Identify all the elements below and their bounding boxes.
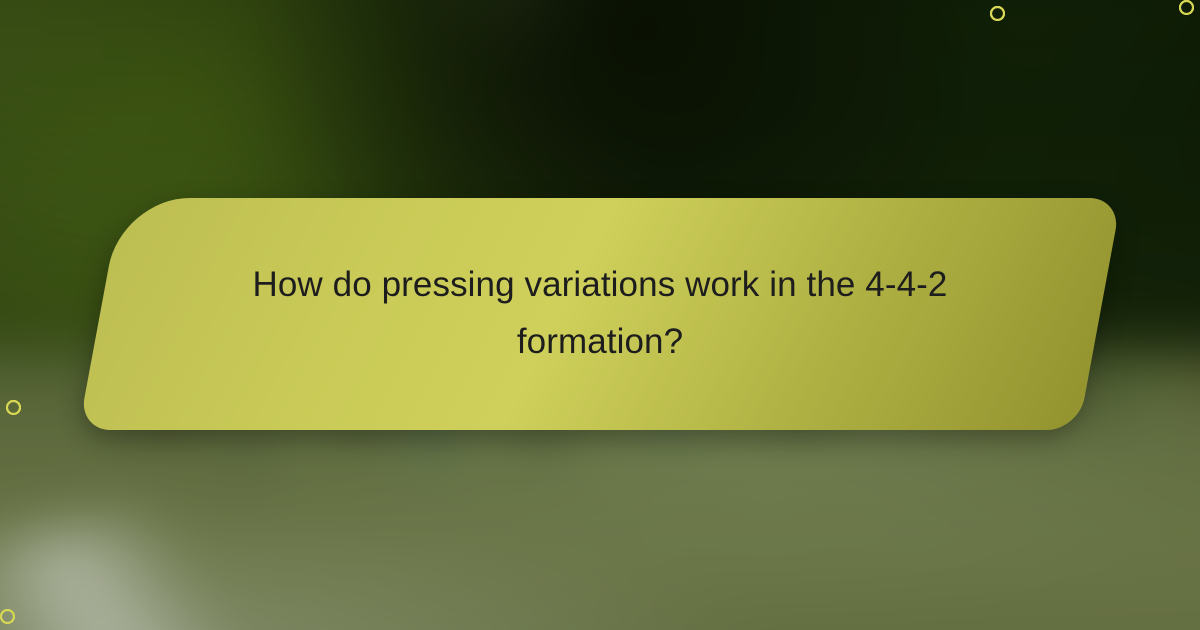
poster-canvas: How do pressing variations work in the 4… bbox=[0, 0, 1200, 630]
quote-text: How do pressing variations work in the 4… bbox=[218, 257, 982, 370]
quote-card: How do pressing variations work in the 4… bbox=[79, 198, 1122, 430]
quote-card-content: How do pressing variations work in the 4… bbox=[100, 198, 1100, 430]
